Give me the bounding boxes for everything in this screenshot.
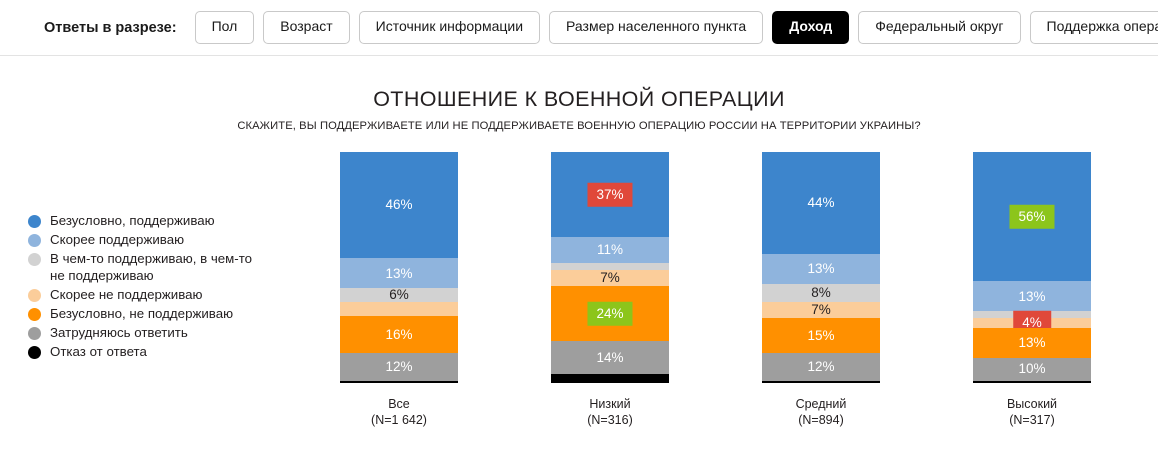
legend-swatch-icon — [28, 253, 41, 266]
segment-value-label: 13% — [807, 262, 834, 276]
filter-bar-label: Ответы в разрезе: — [44, 20, 177, 36]
filter-chip-0[interactable]: Пол — [195, 11, 255, 43]
stacked-bar: 46%13%6%16%12% — [340, 152, 458, 383]
segment-value-label: 12% — [807, 360, 834, 374]
legend-label: Безусловно, не поддерживаю — [50, 305, 233, 322]
filter-chip-6[interactable]: Поддержка операции — [1030, 11, 1158, 43]
stacked-bar: 37%11%7%24%14% — [551, 152, 669, 383]
highlight-badge: 24% — [587, 301, 632, 326]
filter-chip-4[interactable]: Доход — [772, 11, 849, 43]
segment-value-label: 13% — [1018, 336, 1045, 350]
legend-label: Скорее поддерживаю — [50, 231, 184, 248]
bar-segment[interactable]: 37% — [551, 152, 669, 237]
bar-segment[interactable]: 16% — [340, 316, 458, 353]
chart-title: ОТНОШЕНИЕ К ВОЕННОЙ ОПЕРАЦИИ — [0, 87, 1158, 112]
highlight-badge: 37% — [587, 182, 632, 207]
bar-column-средний: 44%13%8%7%15%12%Средний(N=894) — [762, 152, 880, 428]
segment-value-label: 7% — [811, 303, 831, 317]
legend-label: В чем-то поддерживаю, в чем-то не поддер… — [50, 250, 252, 284]
legend-item[interactable]: Скорее не поддерживаю — [28, 286, 290, 303]
bar-segment[interactable]: 12% — [340, 353, 458, 381]
bar-segment[interactable]: 12% — [762, 353, 880, 381]
bar-segment[interactable]: 46% — [340, 152, 458, 258]
segment-value-label: 8% — [811, 286, 831, 300]
bar-segment[interactable]: 13% — [973, 328, 1091, 358]
category-sample-size: (N=317) — [973, 412, 1091, 428]
bar-segment[interactable]: 7% — [551, 270, 669, 286]
category-name: Высокий — [973, 396, 1091, 412]
legend-swatch-icon — [28, 308, 41, 321]
legend-label: Затрудняюсь ответить — [50, 324, 188, 341]
legend-swatch-icon — [28, 215, 41, 228]
category-label: Средний(N=894) — [762, 396, 880, 428]
legend-label: Отказ от ответа — [50, 343, 147, 360]
bar-segment[interactable]: 15% — [762, 318, 880, 353]
bar-segment[interactable] — [762, 381, 880, 383]
filter-chip-1[interactable]: Возраст — [263, 11, 349, 43]
bar-column-все: 46%13%6%16%12%Все(N=1 642) — [340, 152, 458, 428]
segment-value-label: 16% — [385, 328, 412, 342]
legend-swatch-icon — [28, 289, 41, 302]
bar-column-высокий: 56%13%4%13%10%Высокий(N=317) — [973, 152, 1091, 428]
category-sample-size: (N=894) — [762, 412, 880, 428]
stacked-bar: 56%13%4%13%10% — [973, 152, 1091, 383]
bar-segment[interactable]: 6% — [340, 288, 458, 302]
segment-value-label: 10% — [1018, 362, 1045, 376]
segment-value-label: 14% — [596, 351, 623, 365]
segment-value-label: 13% — [385, 267, 412, 281]
legend-label: Безусловно, поддерживаю — [50, 212, 215, 229]
legend-swatch-icon — [28, 327, 41, 340]
bar-segment[interactable]: 10% — [973, 358, 1091, 381]
category-name: Средний — [762, 396, 880, 412]
filter-chip-2[interactable]: Источник информации — [359, 11, 540, 43]
filter-chip-group: ПолВозрастИсточник информацииРазмер насе… — [195, 11, 1158, 43]
legend-swatch-icon — [28, 346, 41, 359]
segment-value-label: 13% — [1018, 290, 1045, 304]
bar-segment[interactable] — [973, 381, 1091, 383]
legend-item[interactable]: Безусловно, не поддерживаю — [28, 305, 290, 322]
legend-item[interactable]: Скорее поддерживаю — [28, 231, 290, 248]
bar-segment[interactable]: 56% — [973, 152, 1091, 281]
segment-value-label: 44% — [807, 196, 834, 210]
segment-value-label: 15% — [807, 329, 834, 343]
bar-segment[interactable]: 8% — [762, 284, 880, 302]
bar-segment[interactable] — [551, 263, 669, 270]
legend-item[interactable]: Безусловно, поддерживаю — [28, 212, 290, 229]
legend-item[interactable]: Отказ от ответа — [28, 343, 290, 360]
filter-bar: Ответы в разрезе: ПолВозрастИсточник инф… — [0, 0, 1158, 56]
category-sample-size: (N=316) — [551, 412, 669, 428]
bar-segment[interactable]: 13% — [762, 254, 880, 284]
filter-chip-5[interactable]: Федеральный округ — [858, 11, 1020, 43]
legend-label: Скорее не поддерживаю — [50, 286, 203, 303]
segment-value-label: 6% — [389, 288, 409, 302]
filter-chip-3[interactable]: Размер населенного пункта — [549, 11, 763, 43]
bar-segment[interactable]: 24% — [551, 286, 669, 341]
bar-segment[interactable]: 13% — [340, 258, 458, 288]
bar-segment[interactable]: 4% — [973, 318, 1091, 327]
stacked-bar: 44%13%8%7%15%12% — [762, 152, 880, 383]
category-label: Высокий(N=317) — [973, 396, 1091, 428]
segment-value-label: 11% — [597, 243, 623, 257]
highlight-badge: 56% — [1009, 204, 1054, 229]
category-label: Низкий(N=316) — [551, 396, 669, 428]
bar-segment[interactable] — [340, 302, 458, 316]
legend-swatch-icon — [28, 234, 41, 247]
bar-segment[interactable] — [551, 374, 669, 383]
bar-segment[interactable]: 11% — [551, 237, 669, 262]
legend-item[interactable]: В чем-то поддерживаю, в чем-то не поддер… — [28, 250, 290, 284]
bar-segment[interactable] — [340, 381, 458, 383]
legend-item[interactable]: Затрудняюсь ответить — [28, 324, 290, 341]
category-name: Все — [340, 396, 458, 412]
bar-column-низкий: 37%11%7%24%14%Низкий(N=316) — [551, 152, 669, 428]
bar-segment[interactable]: 7% — [762, 302, 880, 318]
bar-segment[interactable]: 14% — [551, 341, 669, 373]
bar-segment[interactable]: 13% — [973, 281, 1091, 311]
chart-subtitle: СКАЖИТЕ, ВЫ ПОДДЕРЖИВАЕТЕ ИЛИ НЕ ПОДДЕРЖ… — [0, 120, 1158, 132]
category-name: Низкий — [551, 396, 669, 412]
segment-value-label: 46% — [385, 198, 412, 212]
segment-value-label: 7% — [600, 271, 620, 285]
segment-value-label: 12% — [385, 360, 412, 374]
category-sample-size: (N=1 642) — [340, 412, 458, 428]
bar-segment[interactable]: 44% — [762, 152, 880, 254]
category-label: Все(N=1 642) — [340, 396, 458, 428]
chart-legend: Безусловно, поддерживаюСкорее поддержива… — [28, 212, 290, 362]
